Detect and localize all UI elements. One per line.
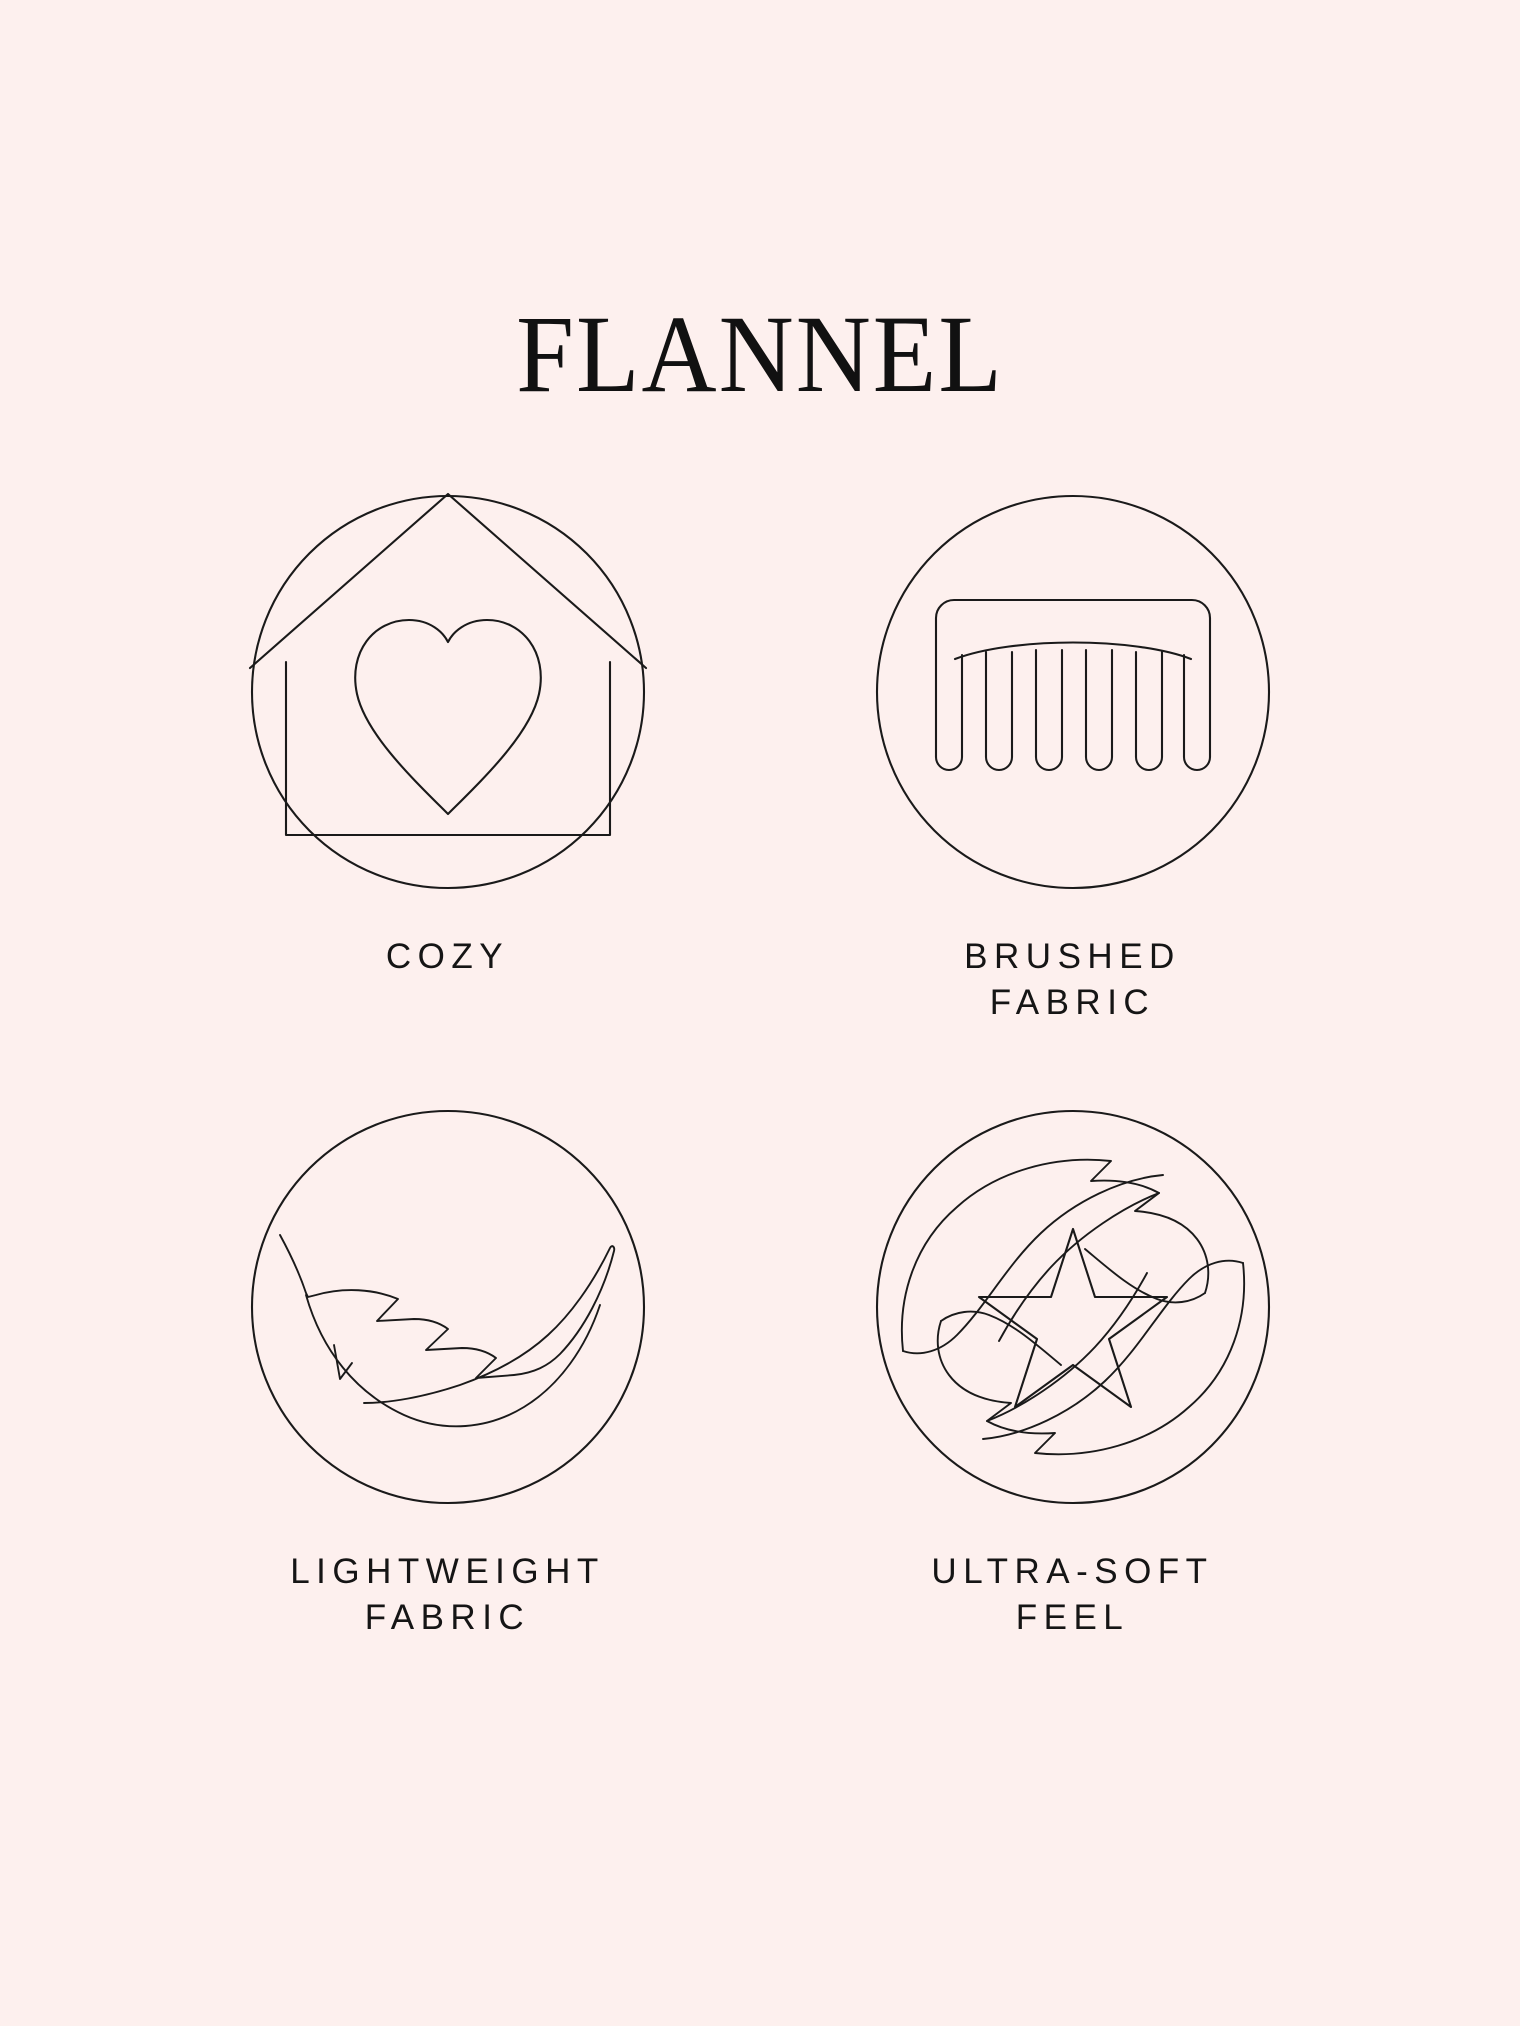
page-title: FLANNEL bbox=[516, 300, 1004, 410]
feature-item-ultra-soft-feel[interactable]: ULTRA-SOFT FEEL bbox=[820, 1107, 1325, 1640]
feature-label-cozy: COZY bbox=[386, 934, 509, 980]
feather-icon bbox=[248, 1107, 648, 1507]
feature-item-cozy[interactable]: COZY bbox=[195, 492, 700, 1025]
title-container: FLANNEL bbox=[0, 300, 1520, 410]
feature-label-lightweight-fabric: LIGHTWEIGHT FABRIC bbox=[290, 1549, 605, 1640]
house-heart-icon bbox=[248, 492, 648, 892]
poster-root: FLANNEL COZY bbox=[0, 0, 1520, 2026]
feature-grid: COZY BRUSHED FABRIC bbox=[195, 492, 1325, 1640]
comb-brush-icon bbox=[873, 492, 1273, 892]
feathers-star-icon bbox=[873, 1107, 1273, 1507]
feature-item-brushed-fabric[interactable]: BRUSHED FABRIC bbox=[820, 492, 1325, 1025]
feature-label-brushed-fabric: BRUSHED FABRIC bbox=[964, 934, 1181, 1025]
feature-label-ultra-soft-feel: ULTRA-SOFT FEEL bbox=[931, 1549, 1213, 1640]
feature-item-lightweight-fabric[interactable]: LIGHTWEIGHT FABRIC bbox=[195, 1107, 700, 1640]
